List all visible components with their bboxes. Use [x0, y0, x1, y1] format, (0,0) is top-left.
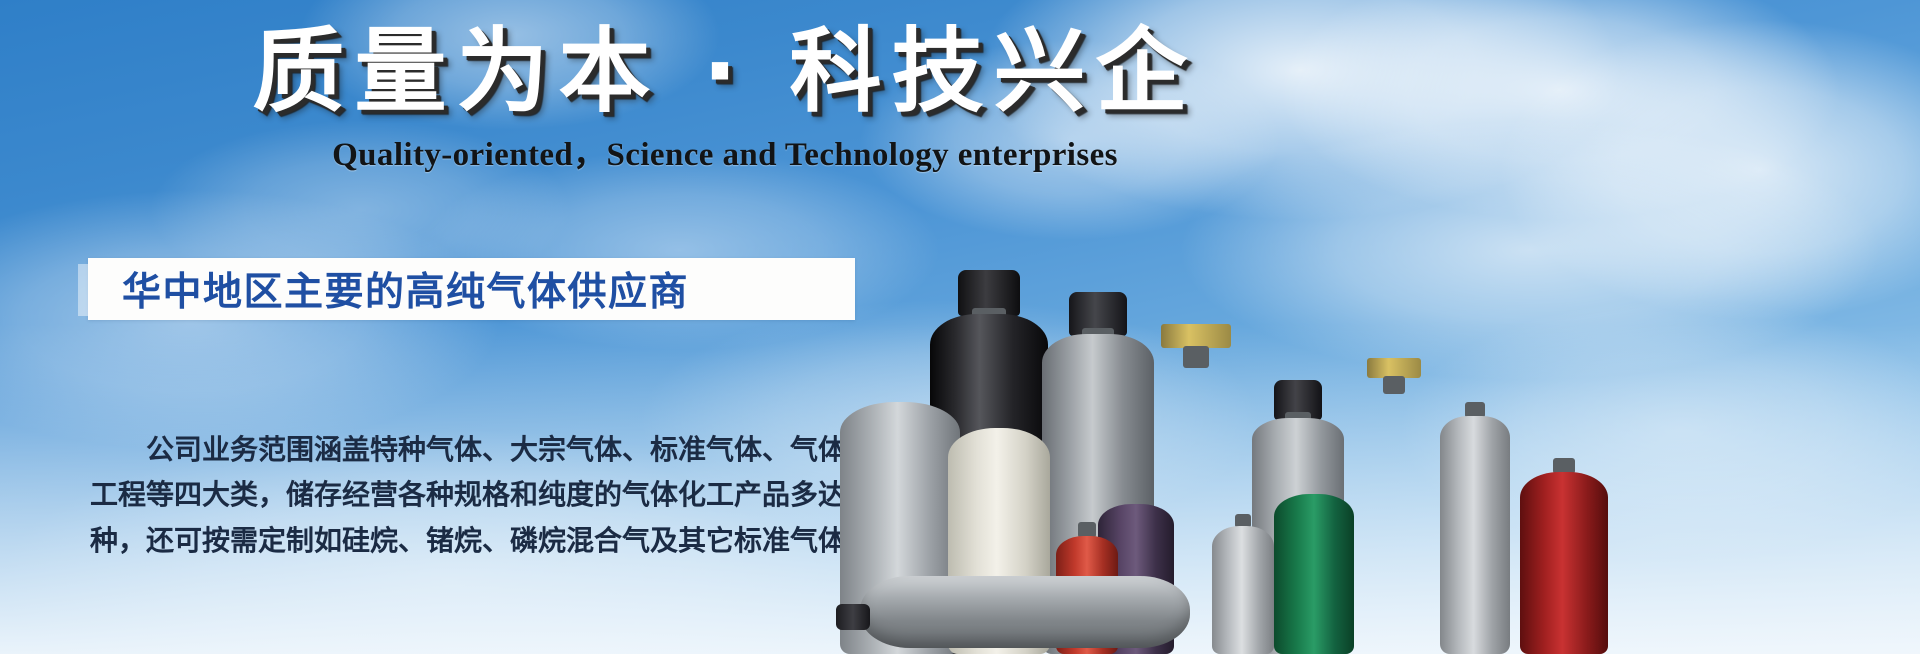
highlight-banner-box: 华中地区主要的高纯气体供应商 [88, 258, 855, 320]
silver-cylinder [1212, 526, 1274, 654]
paragraph-line: 种，还可按需定制如硅烷、锗烷、磷烷混合气及其它标准气体。 [90, 519, 850, 564]
paragraph-line: 工程等四大类，储存经营各种规格和纯度的气体化工产品多达上百 [90, 473, 850, 518]
cloud-shape [0, 190, 500, 450]
horizontal-silver-tank [860, 576, 1190, 648]
tank-valve-icon [836, 604, 870, 630]
paragraph-line: 公司业务范围涵盖特种气体、大宗气体、标准气体、气体管道 [90, 428, 850, 473]
blue-cylinder [1352, 392, 1436, 654]
highlight-text: 华中地区主要的高纯气体供应商 [122, 261, 689, 317]
silver-cylinder [1440, 416, 1510, 654]
green-cylinder [1274, 494, 1354, 654]
promotional-banner: 质量为本 · 科技兴企 Quality-oriented，Science and… [0, 0, 1920, 654]
gas-cylinders-image [860, 94, 1920, 654]
dark-red-cylinder [1520, 472, 1608, 654]
description-paragraph: 公司业务范围涵盖特种气体、大宗气体、标准气体、气体管道 工程等四大类，储存经营各… [90, 428, 850, 564]
